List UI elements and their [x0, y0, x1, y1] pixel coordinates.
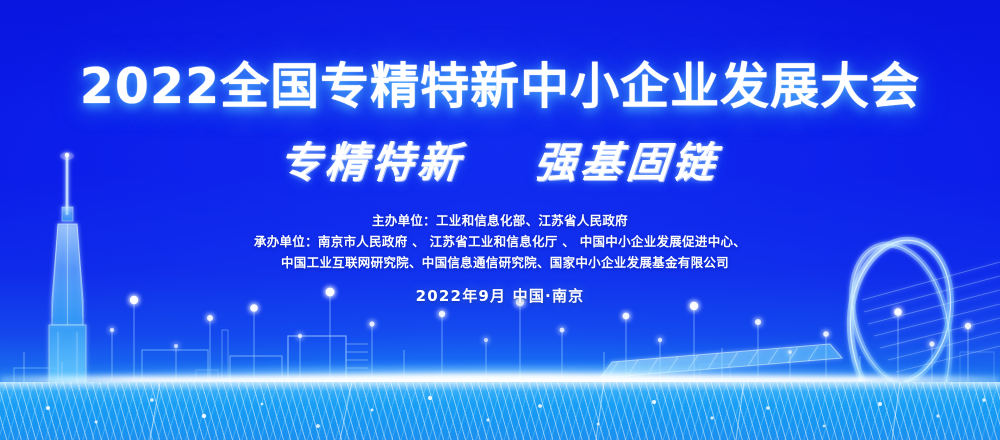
banner-subtitle: 专精特新 强基固链 — [0, 111, 1000, 190]
conference-banner: 2022全国专精特新中小企业发展大会 专精特新 强基固链 主办单位：工业和信息化… — [0, 0, 1000, 440]
digital-mesh-ground — [0, 382, 1000, 440]
organizer-block: 主办单位：工业和信息化部、江苏省人民政府 承办单位：南京市人民政府 、 江苏省工… — [0, 190, 1000, 273]
ground-particle-dots — [0, 382, 1000, 440]
undertaker-line-1: 承办单位：南京市人民政府 、 江苏省工业和信息化厅 、 中国中小企业发展促进中心… — [0, 231, 1000, 252]
subtitle-phrase-left: 专精特新 — [277, 138, 465, 187]
page-title: 2022全国专精特新中小企业发展大会 — [0, 0, 1000, 111]
date-location-line: 2022年9月 中国·南京 — [0, 273, 1000, 306]
organizer-line: 主办单位：工业和信息化部、江苏省人民政府 — [0, 210, 1000, 231]
subtitle-phrase-right: 强基固链 — [532, 138, 720, 187]
undertaker-line-2: 中国工业互联网研究院、中国信息通信研究院、国家中小企业发展基金有限公司 — [0, 252, 1000, 273]
banner-content: 2022全国专精特新中小企业发展大会 专精特新 强基固链 主办单位：工业和信息化… — [0, 0, 1000, 306]
